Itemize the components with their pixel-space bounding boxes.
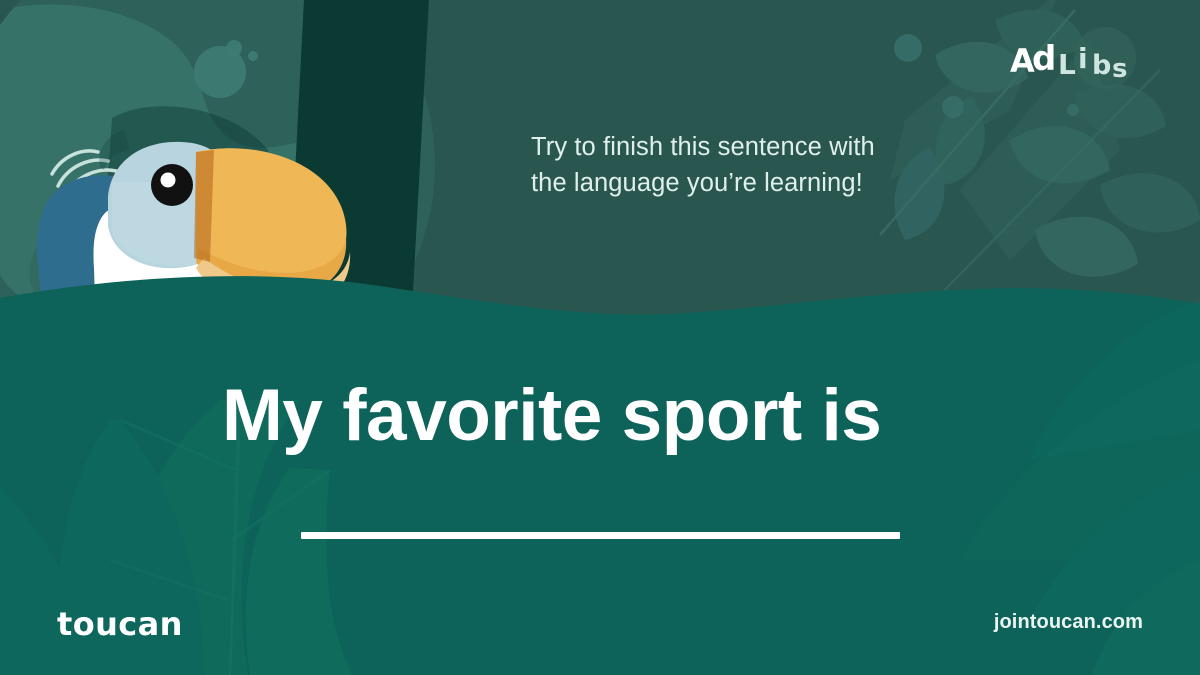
adlibs-letter-s: s [1112,54,1127,84]
adlibs-letter-a: A [1010,42,1034,80]
fill-in-blank-line [301,532,900,539]
headline-sentence: My favorite sport is [222,376,881,456]
adlibs-letter-b: b [1092,50,1111,81]
prompt-text: Try to finish this sentence with the lan… [531,129,1001,201]
adlibs-logo: A d L i b s [1010,38,1150,90]
website-url[interactable]: jointoucan.com [994,611,1143,634]
adlibs-letter-l: L [1058,48,1075,81]
adlibs-social-card: A d L i b s Try to finish this sentence … [0,0,1200,675]
prompt-line-2: the language you’re learning! [531,165,1001,201]
adlibs-letter-d: d [1032,39,1056,79]
adlibs-letter-i: i [1078,42,1087,75]
toucan-wordmark: toucan [57,605,183,643]
card-artwork [0,0,1200,675]
bird-eye [151,164,193,206]
prompt-line-1: Try to finish this sentence with [531,129,1001,165]
